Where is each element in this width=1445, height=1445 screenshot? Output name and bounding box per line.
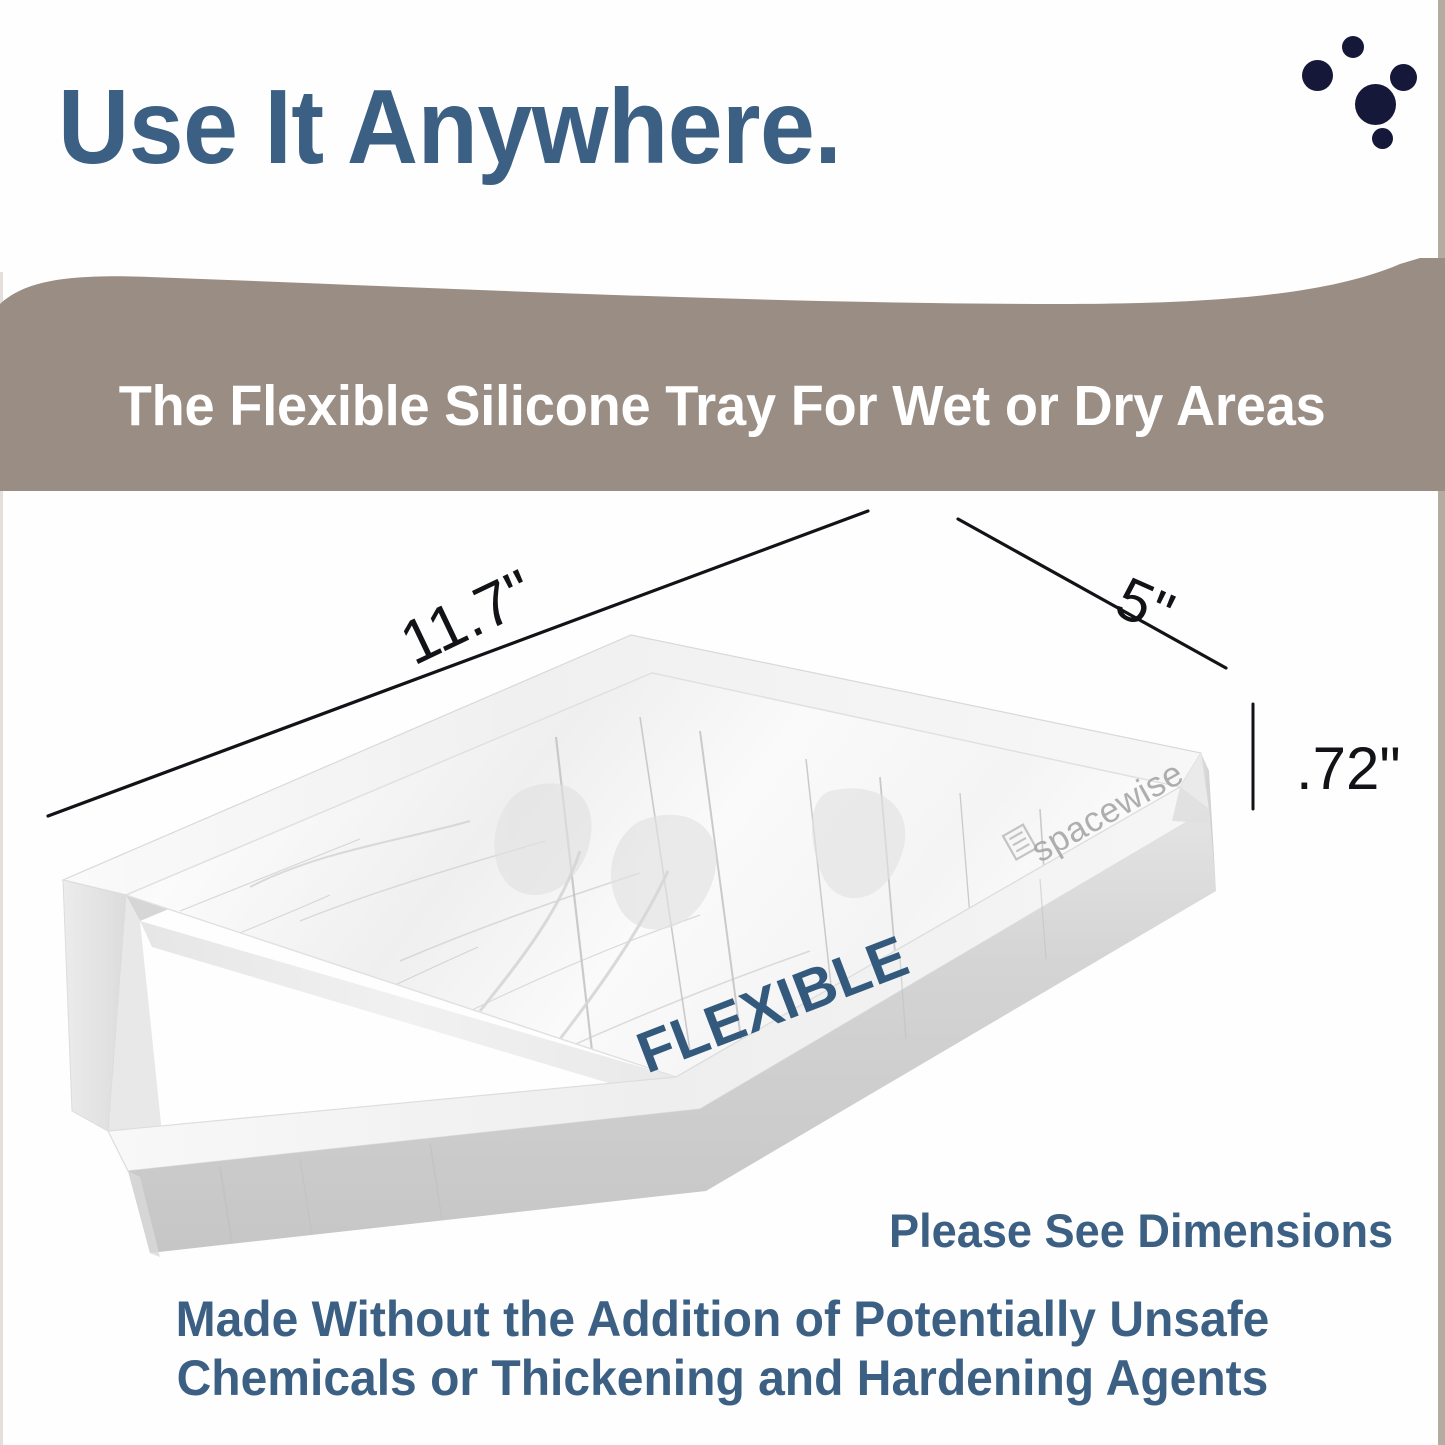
dot-2: [1302, 60, 1333, 91]
width-dimension-line: [958, 519, 1226, 668]
dot-cluster-icon: [1298, 36, 1438, 176]
see-dimensions-note: Please See Dimensions: [889, 1203, 1393, 1258]
infographic-page: Use It Anywhere. The Flexible Silicone T…: [0, 0, 1445, 1445]
dot-3: [1390, 64, 1417, 91]
safety-claim-line-1: Made Without the Addition of Potentially…: [29, 1290, 1416, 1349]
dot-4: [1355, 84, 1396, 125]
safety-claim-line-2: Chemicals or Thickening and Hardening Ag…: [29, 1349, 1416, 1408]
banner-subtitle: The Flexible Silicone Tray For Wet or Dr…: [119, 373, 1326, 439]
dot-5: [1372, 128, 1393, 149]
subtitle-banner: The Flexible Silicone Tray For Wet or Dr…: [0, 258, 1445, 491]
banner-text-wrap: The Flexible Silicone Tray For Wet or Dr…: [0, 258, 1445, 491]
safety-claim: Made Without the Addition of Potentially…: [0, 1290, 1445, 1408]
dot-1: [1342, 36, 1364, 58]
page-title: Use It Anywhere.: [58, 73, 841, 181]
height-dimension-label: .72": [1296, 734, 1401, 803]
